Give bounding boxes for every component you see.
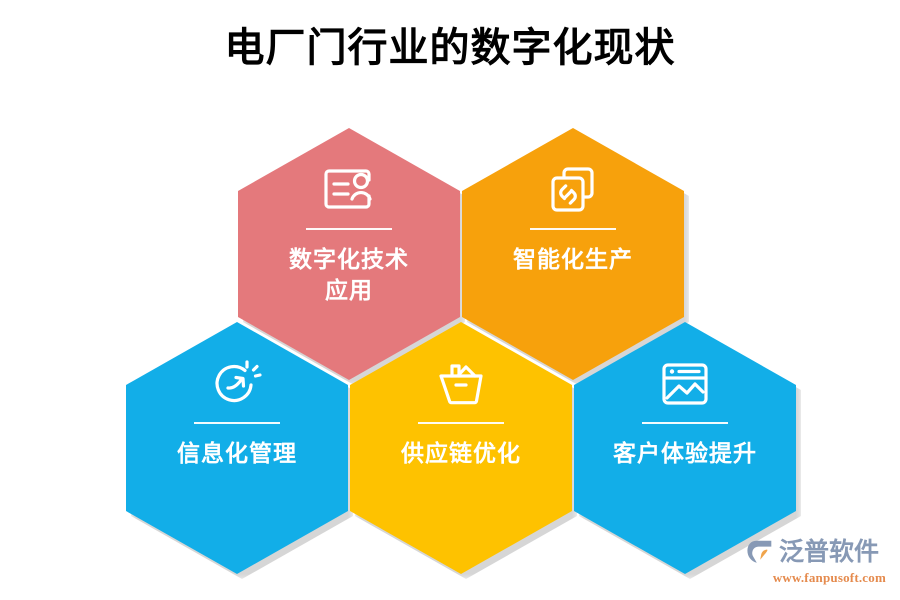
fanpu-logo-mark xyxy=(746,537,776,567)
infographic-canvas: 电厂门行业的数字化现状 数字化技术 应用 xyxy=(0,0,900,600)
hexagon-label-line1: 信息化管理 xyxy=(142,438,332,469)
id-card-contact-icon xyxy=(321,162,377,218)
divider xyxy=(530,228,616,230)
hexagon-label-line1: 客户体验提升 xyxy=(590,438,780,469)
hexagon-label-line2: 应用 xyxy=(254,275,444,306)
hexagon-label: 供应链优化 xyxy=(366,438,556,469)
hexagon-label: 数字化技术 应用 xyxy=(254,244,444,306)
image-chart-window-icon xyxy=(657,356,713,412)
brand-name: 泛普软件 xyxy=(779,540,879,565)
shopping-basket-icon xyxy=(433,356,489,412)
hexagon-label: 智能化生产 xyxy=(478,244,668,275)
brand-logo-row: 泛普软件 xyxy=(746,536,886,568)
hexagon-label-line1: 供应链优化 xyxy=(366,438,556,469)
brand-url: www.fanpusoft.com xyxy=(746,570,886,586)
hexagon-label: 客户体验提升 xyxy=(590,438,780,469)
hexagon-board: 数字化技术 应用 智能化生产 xyxy=(0,0,900,600)
hexagon-label: 信息化管理 xyxy=(142,438,332,469)
divider xyxy=(642,422,728,424)
hexagon-label-line1: 数字化技术 xyxy=(254,244,444,275)
divider xyxy=(306,228,392,230)
divider xyxy=(194,422,280,424)
linked-cards-icon xyxy=(545,162,601,218)
growth-arrow-circle-icon xyxy=(209,356,265,412)
hexagon-label-line1: 智能化生产 xyxy=(478,244,668,275)
brand-logo[interactable]: 泛普软件 www.fanpusoft.com xyxy=(746,536,886,590)
divider xyxy=(418,422,504,424)
